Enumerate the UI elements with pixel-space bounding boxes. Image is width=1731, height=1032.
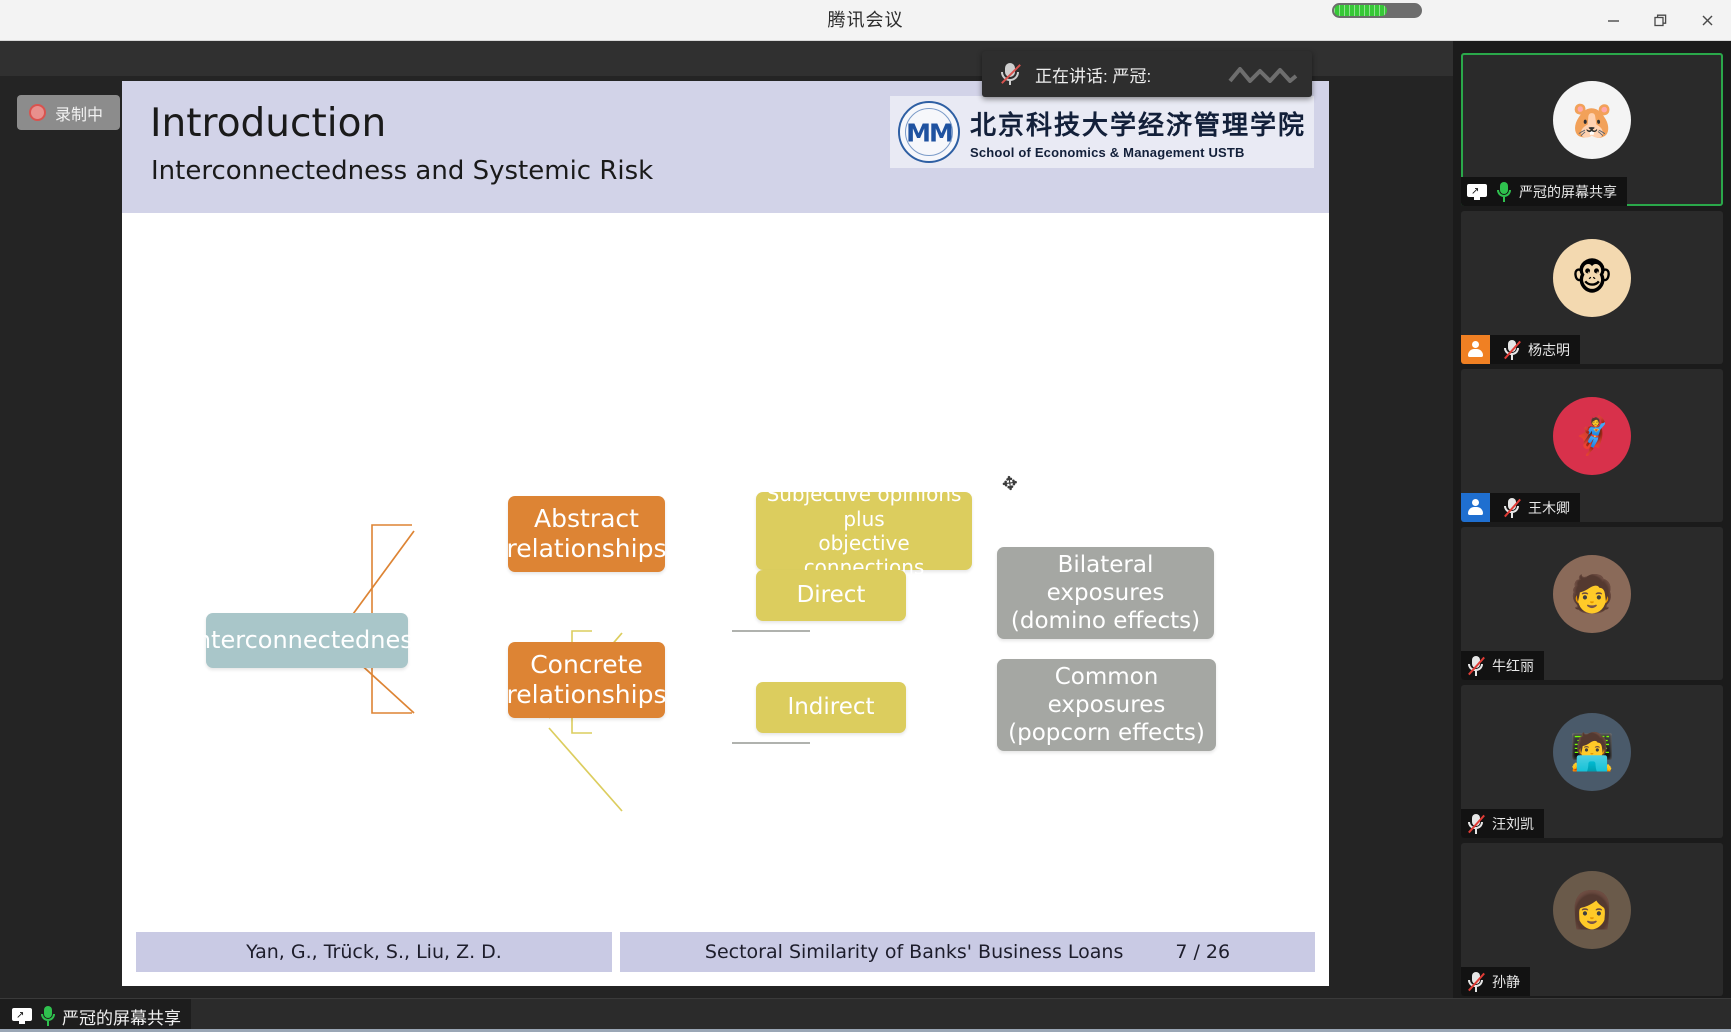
mic-muted-icon <box>1503 340 1521 360</box>
cohost-badge-icon <box>1461 493 1490 522</box>
seal-mark: MM <box>906 119 952 148</box>
concept-diagram: Interconnectedness Abstract relationship… <box>122 213 1329 933</box>
mic-muted-icon <box>1467 814 1485 834</box>
node-indirect[interactable]: Indirect <box>756 682 906 733</box>
recording-indicator[interactable]: 录制中 <box>17 95 120 130</box>
participant-name-bar: 孙静 <box>1461 967 1530 996</box>
recording-label: 录制中 <box>55 101 103 125</box>
host-badge-icon <box>1461 335 1490 364</box>
slide-footer: Yan, G., Trück, S., Liu, Z. D. Sectoral … <box>122 932 1329 972</box>
mic-muted-icon <box>1503 498 1521 518</box>
footer-authors: Yan, G., Trück, S., Liu, Z. D. <box>136 932 612 972</box>
participant-tile[interactable]: 🦸王木卿 <box>1461 369 1723 522</box>
audio-level-fill <box>1334 5 1387 16</box>
footer-paper-title: Sectoral Similarity of Banks' Business L… <box>705 941 1123 963</box>
record-dot-icon <box>29 104 46 121</box>
minimize-icon[interactable] <box>1590 0 1637 41</box>
taskbar-share-label: 严冠的屏幕共享 <box>62 1004 181 1029</box>
node-direct[interactable]: Direct <box>756 570 906 621</box>
mic-muted-icon <box>999 61 1021 87</box>
slide-header: Introduction Interconnectedness and Syst… <box>122 81 1329 213</box>
slide-subtitle: Interconnectedness and Systemic Risk <box>151 156 653 186</box>
participant-name: 严冠的屏幕共享 <box>1519 182 1617 202</box>
logo-english-name: School of Economics & Management USTB <box>970 145 1306 160</box>
avatar: 🐹 <box>1553 81 1631 159</box>
footer-right: Sectoral Similarity of Banks' Business L… <box>620 932 1315 972</box>
avatar: 🐵 <box>1553 239 1631 317</box>
remote-cursor-icon: ✥ <box>1001 472 1020 496</box>
participant-name: 王木卿 <box>1528 498 1570 518</box>
ustb-seal-icon: MM <box>898 101 960 163</box>
node-subjective-opinions[interactable]: Subjective opinions plus objective conne… <box>756 492 972 570</box>
avatar: 👩 <box>1553 871 1631 949</box>
taskbar-share-item[interactable]: ↗ 严冠的屏幕共享 <box>0 999 191 1032</box>
participant-name-bar: 杨志明 <box>1461 335 1580 364</box>
mic-on-icon <box>1496 182 1512 202</box>
participant-name-bar: 汪刘凯 <box>1461 809 1544 838</box>
participant-name: 汪刘凯 <box>1492 814 1534 834</box>
participant-name: 孙静 <box>1492 972 1520 992</box>
node-abstract-relationships[interactable]: Abstract relationships <box>508 496 665 572</box>
mic-muted-icon <box>1467 972 1485 992</box>
participant-tile[interactable]: 🧑牛红丽 <box>1461 527 1723 680</box>
close-icon[interactable] <box>1684 0 1731 41</box>
university-logo: MM 北京科技大学经济管理学院 School of Economics & Ma… <box>890 96 1314 168</box>
meeting-window: 腾讯会议 录 <box>0 0 1731 1032</box>
node-common-exposures[interactable]: Common exposures (popcorn effects) <box>997 659 1216 751</box>
mic-on-icon <box>40 1006 56 1026</box>
avatar: 🦸 <box>1553 397 1631 475</box>
waveform-icon <box>1228 61 1298 87</box>
active-speaker-toast[interactable]: 正在讲话: 严冠: <box>982 51 1312 97</box>
screen-share-icon: ↗ <box>12 1008 32 1024</box>
participant-name: 牛红丽 <box>1492 656 1534 676</box>
mic-muted-icon <box>1467 656 1485 676</box>
participant-tile[interactable]: 🐹↗严冠的屏幕共享 <box>1461 53 1723 206</box>
avatar: 🧑‍💻 <box>1553 713 1631 791</box>
screen-share-icon: ↗ <box>1467 184 1487 200</box>
audio-level-meter <box>1332 3 1422 18</box>
taskbar: ↗ 严冠的屏幕共享 <box>0 998 1731 1032</box>
participant-name: 杨志明 <box>1528 340 1570 360</box>
logo-chinese-name: 北京科技大学经济管理学院 <box>970 105 1306 142</box>
participant-tile[interactable]: 🐵杨志明 <box>1461 211 1723 364</box>
participant-name-bar: 王木卿 <box>1461 493 1580 522</box>
node-concrete-relationships[interactable]: Concrete relationships <box>508 642 665 718</box>
participant-rail[interactable]: 🐹↗严冠的屏幕共享🐵杨志明🦸王木卿🧑牛红丽🧑‍💻汪刘凯👩孙静 <box>1453 41 1731 998</box>
presentation-slide: Introduction Interconnectedness and Syst… <box>122 81 1329 986</box>
active-speaker-label: 正在讲话: 严冠: <box>1035 62 1151 87</box>
title-bar: 腾讯会议 <box>0 0 1731 41</box>
participant-name-bar: ↗严冠的屏幕共享 <box>1461 177 1627 206</box>
participant-name-bar: 牛红丽 <box>1461 651 1544 680</box>
node-bilateral-exposures[interactable]: Bilateral exposures (domino effects) <box>997 547 1214 639</box>
window-controls <box>1590 0 1731 41</box>
slide-title: Introduction <box>150 101 386 146</box>
participant-tile[interactable]: 👩孙静 <box>1461 843 1723 996</box>
app-title: 腾讯会议 <box>0 0 1731 41</box>
footer-page-number: 7 / 26 <box>1175 941 1230 963</box>
avatar: 🧑 <box>1553 555 1631 633</box>
participant-tile[interactable]: 🧑‍💻汪刘凯 <box>1461 685 1723 838</box>
node-interconnectedness[interactable]: Interconnectedness <box>206 613 408 668</box>
restore-icon[interactable] <box>1637 0 1684 41</box>
